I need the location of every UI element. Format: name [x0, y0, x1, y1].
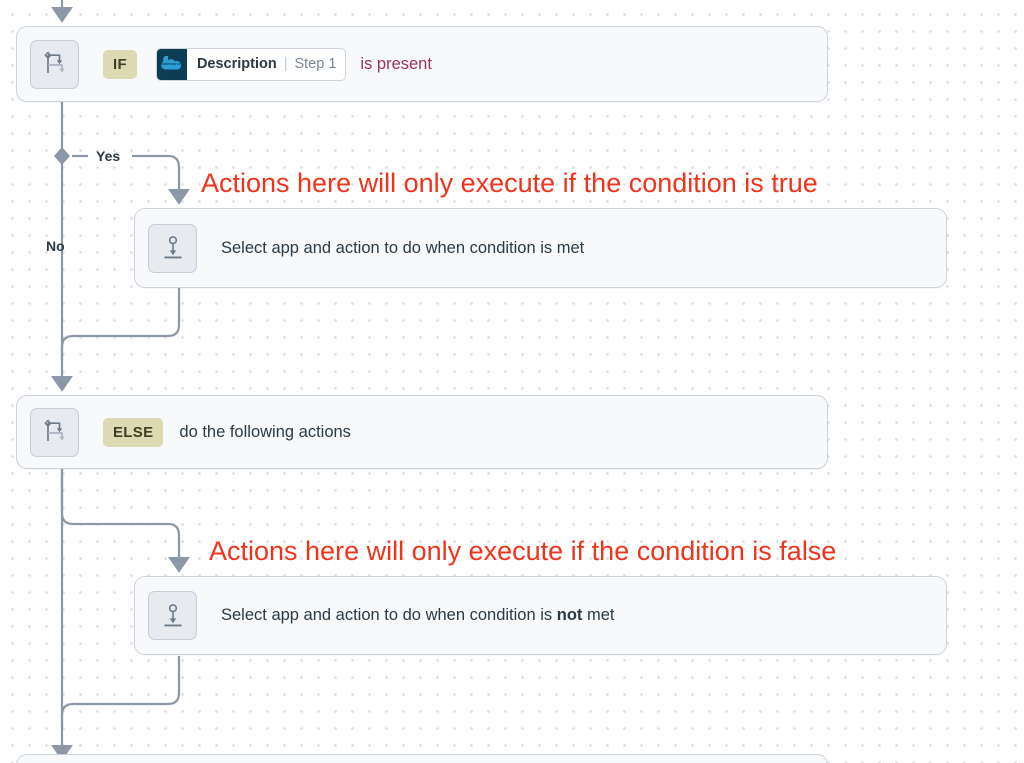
- annotation-true-branch: Actions here will only execute if the co…: [201, 168, 818, 199]
- connector-yes-branch: [72, 156, 179, 196]
- condition-field-text: Description | Step 1: [187, 49, 345, 80]
- condition-operator[interactable]: is present: [360, 55, 432, 74]
- annotation-false-branch: Actions here will only execute if the co…: [209, 536, 836, 567]
- else-condition-card[interactable]: ELSE do the following actions: [16, 395, 828, 469]
- condition-field-name: Description: [197, 56, 277, 72]
- if-condition-card[interactable]: IF salesforce Description | Step 1 is pr…: [16, 26, 828, 102]
- branch-diamond-yes: [54, 147, 70, 165]
- action-label-false-prefix: Select app and action to do when conditi…: [221, 606, 557, 624]
- branch-label-yes: Yes: [96, 148, 120, 164]
- action-label-false: Select app and action to do when conditi…: [221, 606, 614, 625]
- condition-field-step: Step 1: [294, 56, 336, 72]
- condition-field-chip[interactable]: salesforce Description | Step 1: [156, 48, 346, 81]
- action-drop-icon: [148, 591, 197, 640]
- if-badge: IF: [103, 50, 137, 79]
- action-drop-icon: [148, 224, 197, 273]
- action-card-false[interactable]: Select app and action to do when conditi…: [134, 576, 947, 655]
- connector-true-merge: [62, 288, 179, 360]
- action-card-true[interactable]: Select app and action to do when conditi…: [134, 208, 947, 288]
- branch-icon: [30, 40, 79, 89]
- connector-false-merge: [62, 656, 179, 726]
- action-label-false-suffix: met: [582, 606, 614, 624]
- next-step-card-partial[interactable]: [16, 754, 828, 763]
- svg-text:salesforce: salesforce: [161, 62, 181, 66]
- salesforce-logo-icon: salesforce: [157, 49, 187, 80]
- chip-separator: |: [284, 56, 288, 72]
- action-label-true: Select app and action to do when conditi…: [221, 239, 584, 258]
- branch-icon: [30, 408, 79, 457]
- else-label: do the following actions: [179, 423, 351, 442]
- connector-else-branch: [62, 469, 179, 564]
- workflow-canvas: IF salesforce Description | Step 1 is pr…: [0, 0, 1024, 763]
- else-badge: ELSE: [103, 418, 163, 447]
- branch-label-no: No: [46, 238, 65, 254]
- action-label-false-emphasis: not: [557, 606, 583, 624]
